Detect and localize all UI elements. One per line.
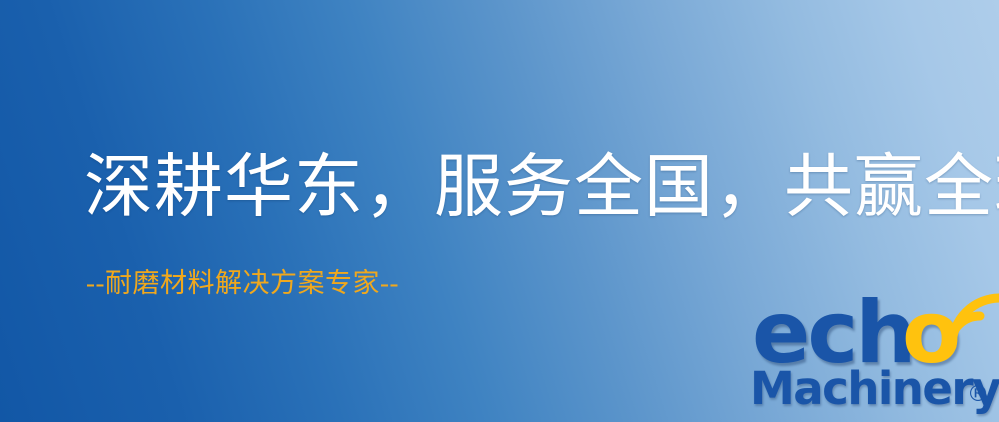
- registered-trademark-icon: ®: [967, 384, 989, 406]
- company-logo[interactable]: ech o Machinery ®: [748, 292, 999, 422]
- signal-waves-icon: [944, 290, 999, 352]
- banner-subtitle: --耐磨材料解决方案专家--: [86, 266, 399, 300]
- hero-banner: 深耕华东，服务全国，共赢全球 --耐磨材料解决方案专家-- ech o Mach…: [0, 0, 999, 422]
- banner-headline: 深耕华东，服务全国，共赢全球: [84, 147, 999, 227]
- logo-text-machinery: Machinery: [750, 364, 999, 414]
